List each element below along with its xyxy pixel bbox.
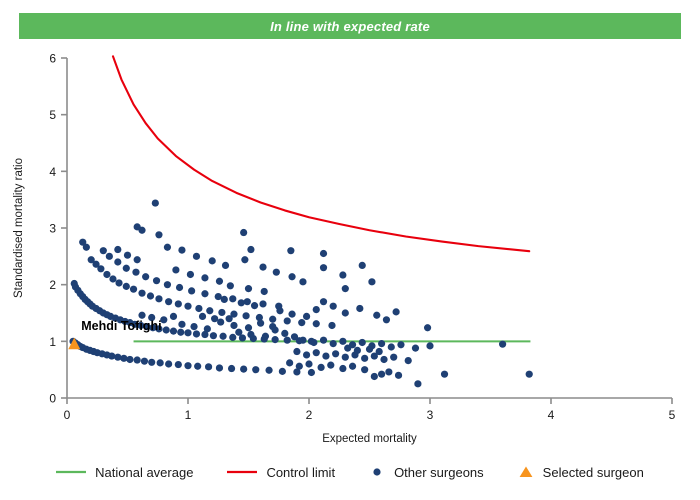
other-surgeon-point[interactable] — [339, 271, 346, 278]
other-surgeon-point[interactable] — [138, 312, 145, 319]
y-axis-tick-label: 3 — [49, 222, 56, 236]
other-surgeon-point[interactable] — [397, 341, 404, 348]
other-surgeon-point[interactable] — [393, 308, 400, 315]
other-surgeon-point[interactable] — [177, 329, 184, 336]
other-surgeon-point[interactable] — [299, 337, 306, 344]
other-surgeon-point[interactable] — [219, 333, 226, 340]
other-surgeon-point[interactable] — [388, 343, 395, 350]
other-surgeon-point[interactable] — [373, 312, 380, 319]
other-surgeon-point[interactable] — [313, 306, 320, 313]
legend-item-national-average[interactable]: National average — [56, 465, 193, 480]
line-swatch-icon — [56, 465, 86, 479]
other-surgeon-point[interactable] — [269, 316, 276, 323]
other-surgeon-point[interactable] — [269, 323, 276, 330]
other-surgeon-point[interactable] — [134, 256, 141, 263]
x-axis-tick-label: 2 — [306, 408, 313, 422]
other-surgeon-point[interactable] — [114, 258, 121, 265]
other-surgeon-point[interactable] — [390, 354, 397, 361]
other-surgeon-point[interactable] — [138, 290, 145, 297]
other-surgeon-point[interactable] — [332, 350, 339, 357]
other-surgeon-point[interactable] — [227, 282, 234, 289]
other-surgeon-point[interactable] — [242, 312, 249, 319]
other-surgeon-point[interactable] — [318, 364, 325, 371]
other-surgeon-point[interactable] — [221, 296, 228, 303]
other-surgeon-point[interactable] — [330, 303, 337, 310]
other-surgeon-point[interactable] — [152, 199, 159, 206]
other-surgeon-point[interactable] — [126, 356, 133, 363]
other-surgeon-point[interactable] — [244, 298, 251, 305]
status-banner-text: In line with expected rate — [270, 19, 430, 34]
x-axis-tick-label: 3 — [427, 408, 434, 422]
other-surgeon-point[interactable] — [284, 317, 291, 324]
other-surgeon-point[interactable] — [273, 269, 280, 276]
other-surgeon-point[interactable] — [328, 322, 335, 329]
other-surgeon-point[interactable] — [303, 351, 310, 358]
other-surgeon-point[interactable] — [313, 320, 320, 327]
other-surgeon-point[interactable] — [380, 356, 387, 363]
other-surgeon-point[interactable] — [378, 371, 385, 378]
other-surgeon-point[interactable] — [178, 321, 185, 328]
triangle-swatch-icon — [518, 465, 534, 479]
other-surgeon-point[interactable] — [251, 302, 258, 309]
y-axis-tick-label: 4 — [49, 165, 56, 179]
selected-surgeon-label: Mehdi Tofighi — [81, 319, 161, 333]
other-surgeon-point[interactable] — [259, 300, 266, 307]
other-surgeon-point[interactable] — [261, 288, 268, 295]
other-surgeon-point[interactable] — [222, 262, 229, 269]
other-surgeon-point[interactable] — [148, 359, 155, 366]
other-surgeon-point[interactable] — [366, 346, 373, 353]
status-banner: In line with expected rate — [19, 13, 681, 39]
other-surgeon-point[interactable] — [218, 309, 225, 316]
x-axis-tick-label: 4 — [548, 408, 555, 422]
other-surgeon-point[interactable] — [308, 369, 315, 376]
other-surgeon-point[interactable] — [130, 286, 137, 293]
other-surgeon-point[interactable] — [247, 246, 254, 253]
other-surgeon-point[interactable] — [245, 285, 252, 292]
y-axis-tick-label: 2 — [49, 278, 56, 292]
other-surgeon-point[interactable] — [376, 348, 383, 355]
other-surgeon-point[interactable] — [123, 283, 130, 290]
y-axis-tick-label: 6 — [49, 52, 56, 66]
x-axis-tick-label: 5 — [669, 408, 676, 422]
other-surgeon-point[interactable] — [175, 361, 182, 368]
other-surgeon-point[interactable] — [211, 315, 218, 322]
other-surgeon-point[interactable] — [281, 330, 288, 337]
other-surgeon-point[interactable] — [339, 338, 346, 345]
other-surgeon-point[interactable] — [276, 307, 283, 314]
other-surgeon-point[interactable] — [153, 277, 160, 284]
other-surgeon-point[interactable] — [178, 247, 185, 254]
other-surgeon-point[interactable] — [157, 359, 164, 366]
other-surgeon-point[interactable] — [305, 360, 312, 367]
other-surgeon-point[interactable] — [216, 278, 223, 285]
other-surgeon-point[interactable] — [193, 330, 200, 337]
other-surgeon-point[interactable] — [184, 303, 191, 310]
other-surgeon-point[interactable] — [147, 292, 154, 299]
other-surgeon-point[interactable] — [175, 300, 182, 307]
other-surgeon-point[interactable] — [176, 284, 183, 291]
other-surgeon-point[interactable] — [298, 319, 305, 326]
other-surgeon-point[interactable] — [240, 229, 247, 236]
x-axis-title: Expected mortality — [322, 433, 417, 445]
other-surgeon-point[interactable] — [170, 328, 177, 335]
other-surgeon-point[interactable] — [206, 307, 213, 314]
control-limit-curve — [113, 56, 529, 251]
y-axis-tick-label: 1 — [49, 335, 56, 349]
other-surgeon-point[interactable] — [265, 367, 272, 374]
other-surgeon-point[interactable] — [499, 341, 506, 348]
other-surgeon-point[interactable] — [342, 354, 349, 361]
other-surgeon-point[interactable] — [245, 324, 252, 331]
other-surgeon-point[interactable] — [320, 298, 327, 305]
other-surgeon-point[interactable] — [164, 281, 171, 288]
legend-label: Other surgeons — [394, 465, 484, 480]
other-surgeon-point[interactable] — [412, 345, 419, 352]
other-surgeon-point[interactable] — [385, 368, 392, 375]
chart-legend: National averageControl limitOther surge… — [0, 455, 700, 489]
other-surgeon-point[interactable] — [170, 313, 177, 320]
other-surgeon-point[interactable] — [229, 334, 236, 341]
other-surgeon-point[interactable] — [354, 347, 361, 354]
other-surgeon-point[interactable] — [342, 309, 349, 316]
other-surgeon-point[interactable] — [303, 313, 310, 320]
legend-label: National average — [95, 465, 193, 480]
other-surgeon-point[interactable] — [257, 320, 264, 327]
other-surgeon-point[interactable] — [247, 331, 254, 338]
other-surgeon-point[interactable] — [106, 253, 113, 260]
other-surgeon-point[interactable] — [262, 333, 269, 340]
other-surgeon-point[interactable] — [123, 265, 130, 272]
other-surgeon-point[interactable] — [114, 354, 121, 361]
other-surgeon-point[interactable] — [195, 305, 202, 312]
other-surgeon-point[interactable] — [184, 329, 191, 336]
other-surgeon-point[interactable] — [226, 315, 233, 322]
other-surgeon-point[interactable] — [320, 250, 327, 257]
other-surgeon-point[interactable] — [291, 333, 298, 340]
other-surgeon-point[interactable] — [165, 360, 172, 367]
series-other-surgeons — [69, 199, 532, 387]
other-surgeon-point[interactable] — [124, 252, 131, 259]
other-surgeon-point[interactable] — [359, 339, 366, 346]
other-surgeon-point[interactable] — [383, 316, 390, 323]
other-surgeon-point[interactable] — [344, 345, 351, 352]
other-surgeon-point[interactable] — [322, 352, 329, 359]
other-surgeon-point[interactable] — [441, 371, 448, 378]
other-surgeon-point[interactable] — [313, 349, 320, 356]
other-surgeon-point[interactable] — [342, 285, 349, 292]
other-surgeon-point[interactable] — [339, 365, 346, 372]
other-surgeon-point[interactable] — [109, 275, 116, 282]
other-surgeon-point[interactable] — [378, 340, 385, 347]
y-axis-title: Standardised mortality ratio — [13, 158, 25, 298]
other-surgeon-point[interactable] — [216, 364, 223, 371]
other-surgeon-point[interactable] — [235, 329, 242, 336]
other-surgeon-point[interactable] — [108, 352, 115, 359]
other-surgeon-point[interactable] — [330, 340, 337, 347]
y-axis-tick-label: 0 — [49, 392, 56, 406]
other-surgeon-point[interactable] — [284, 337, 291, 344]
line-swatch-icon — [227, 465, 257, 479]
other-surgeon-point[interactable] — [414, 380, 421, 387]
other-surgeon-point[interactable] — [115, 279, 122, 286]
chart-canvas: 0123456012345Expected mortalityStandardi… — [0, 40, 700, 450]
other-surgeon-point[interactable] — [114, 246, 121, 253]
other-surgeon-point[interactable] — [272, 336, 279, 343]
other-surgeon-point[interactable] — [279, 368, 286, 375]
other-surgeon-point[interactable] — [201, 290, 208, 297]
other-surgeon-point[interactable] — [164, 244, 171, 251]
legend-item-other-surgeons[interactable]: Other surgeons — [369, 465, 484, 480]
other-surgeon-point[interactable] — [361, 366, 368, 373]
other-surgeon-point[interactable] — [426, 342, 433, 349]
other-surgeon-point[interactable] — [240, 366, 247, 373]
other-surgeon-point[interactable] — [359, 262, 366, 269]
other-surgeon-point[interactable] — [368, 278, 375, 285]
other-surgeon-point[interactable] — [184, 362, 191, 369]
other-surgeon-point[interactable] — [209, 257, 216, 264]
y-axis-tick-label: 5 — [49, 108, 56, 122]
legend-item-control-limit[interactable]: Control limit — [227, 465, 335, 480]
other-surgeon-point[interactable] — [229, 295, 236, 302]
other-surgeon-point[interactable] — [286, 359, 293, 366]
other-surgeon-point[interactable] — [193, 253, 200, 260]
other-surgeon-point[interactable] — [205, 363, 212, 370]
other-surgeon-point[interactable] — [241, 256, 248, 263]
other-surgeon-point[interactable] — [327, 362, 334, 369]
legend-item-selected-surgeon[interactable]: Selected surgeon — [518, 465, 644, 480]
other-surgeon-point[interactable] — [199, 313, 206, 320]
other-surgeon-point[interactable] — [217, 318, 224, 325]
other-surgeon-point[interactable] — [188, 287, 195, 294]
other-surgeon-point[interactable] — [320, 337, 327, 344]
other-surgeon-point[interactable] — [120, 355, 127, 362]
other-surgeon-point[interactable] — [142, 273, 149, 280]
other-surgeon-point[interactable] — [526, 371, 533, 378]
other-surgeon-point[interactable] — [293, 348, 300, 355]
other-surgeon-point[interactable] — [230, 322, 237, 329]
dot-swatch-icon — [369, 465, 385, 479]
other-surgeon-point[interactable] — [204, 325, 211, 332]
other-surgeon-point[interactable] — [296, 363, 303, 370]
other-surgeon-point[interactable] — [83, 244, 90, 251]
other-surgeon-point[interactable] — [134, 223, 141, 230]
other-surgeon-point[interactable] — [97, 265, 104, 272]
other-surgeon-point[interactable] — [190, 323, 197, 330]
other-surgeon-point[interactable] — [100, 247, 107, 254]
other-surgeon-point[interactable] — [424, 324, 431, 331]
legend-label: Selected surgeon — [543, 465, 644, 480]
other-surgeon-point[interactable] — [238, 299, 245, 306]
other-surgeon-point[interactable] — [405, 357, 412, 364]
other-surgeon-point[interactable] — [172, 266, 179, 273]
other-surgeon-point[interactable] — [299, 278, 306, 285]
other-surgeon-point[interactable] — [320, 264, 327, 271]
other-surgeon-point[interactable] — [194, 363, 201, 370]
other-surgeon-point[interactable] — [349, 363, 356, 370]
legend-label: Control limit — [266, 465, 335, 480]
other-surgeon-point[interactable] — [141, 358, 148, 365]
other-surgeon-point[interactable] — [134, 356, 141, 363]
other-surgeon-point[interactable] — [163, 326, 170, 333]
funnel-plot-page: In line with expected rate 0123456012345… — [0, 0, 700, 500]
other-surgeon-point[interactable] — [310, 339, 317, 346]
other-surgeon-point[interactable] — [259, 264, 266, 271]
other-surgeon-point[interactable] — [288, 273, 295, 280]
other-surgeon-point[interactable] — [288, 311, 295, 318]
other-surgeon-point[interactable] — [287, 247, 294, 254]
x-axis-tick-label: 1 — [185, 408, 192, 422]
other-surgeon-point[interactable] — [165, 298, 172, 305]
other-surgeon-point[interactable] — [132, 269, 139, 276]
funnel-plot-svg: 0123456012345Expected mortalityStandardi… — [0, 40, 700, 450]
other-surgeon-point[interactable] — [155, 231, 162, 238]
other-surgeon-point[interactable] — [252, 366, 259, 373]
other-surgeon-point[interactable] — [395, 372, 402, 379]
other-surgeon-point[interactable] — [155, 295, 162, 302]
other-surgeon-point[interactable] — [356, 305, 363, 312]
other-surgeon-point[interactable] — [210, 332, 217, 339]
other-surgeon-point[interactable] — [371, 373, 378, 380]
other-surgeon-point[interactable] — [361, 355, 368, 362]
x-axis-tick-label: 0 — [64, 408, 71, 422]
other-surgeon-point[interactable] — [228, 365, 235, 372]
other-surgeon-point[interactable] — [103, 271, 110, 278]
other-surgeon-point[interactable] — [187, 271, 194, 278]
other-surgeon-point[interactable] — [201, 274, 208, 281]
